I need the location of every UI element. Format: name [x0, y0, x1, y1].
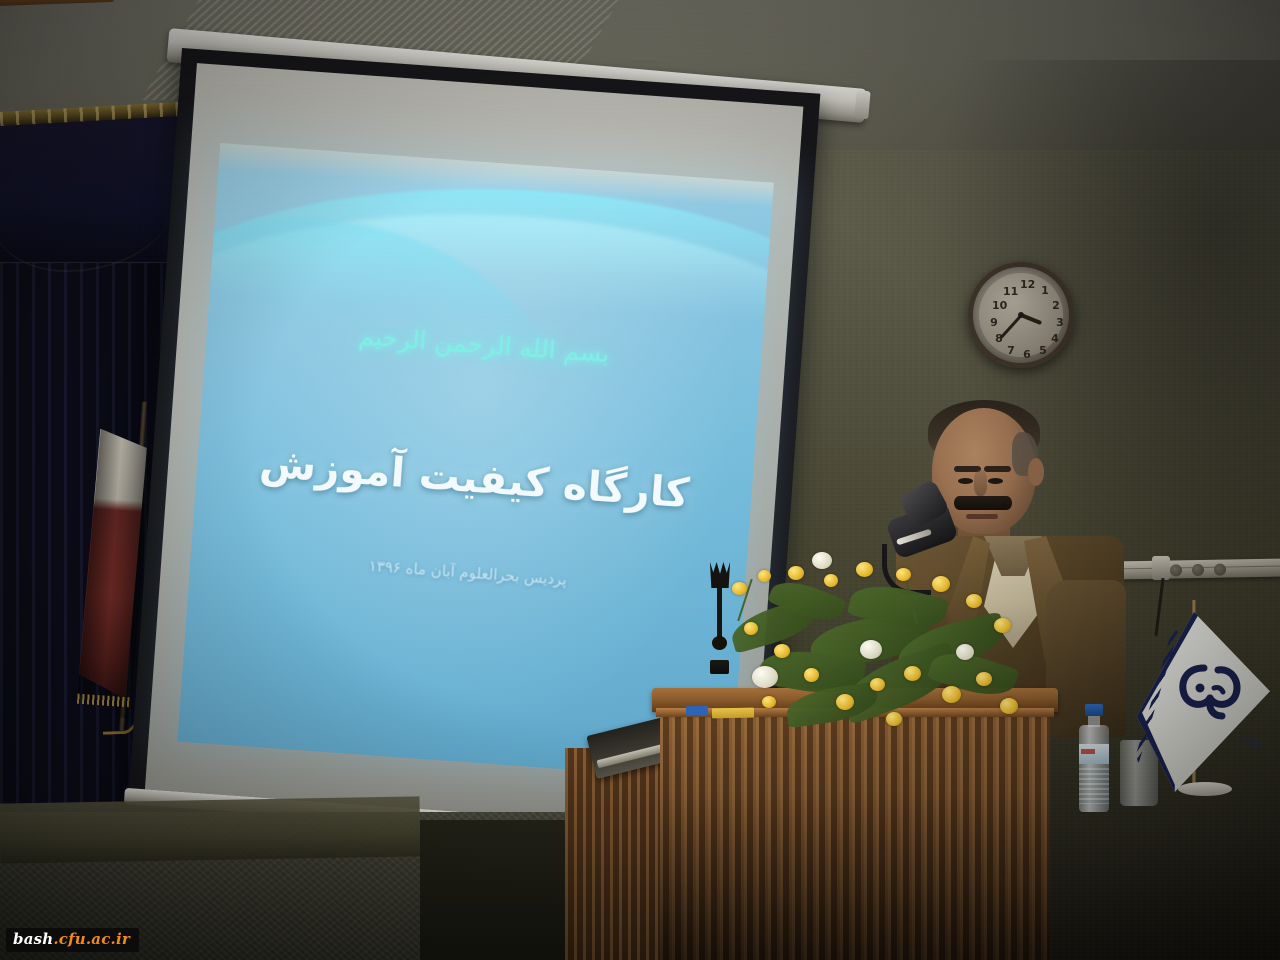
desk-flag-subtext [1238, 734, 1268, 752]
clock-minute-hand [999, 314, 1022, 339]
water-bottle[interactable] [1077, 704, 1111, 812]
bloom [824, 574, 838, 587]
bottle-ribs [1079, 768, 1109, 804]
housing-end-cap [854, 90, 870, 119]
side-table-flutes [565, 748, 671, 960]
power-socket-2[interactable] [1192, 564, 1204, 576]
photograph-scene: بسم الله الرحمن الرحیم کارگاه کیفیت آموز… [0, 0, 1280, 960]
bloom [994, 618, 1011, 633]
bloom [966, 594, 982, 608]
presenter-brow-left [984, 466, 1011, 472]
bloom [804, 668, 819, 682]
bloom [788, 566, 804, 580]
bloom [762, 696, 776, 708]
clock-numeral-3: 3 [1053, 316, 1067, 330]
power-plug [1152, 556, 1170, 580]
bloom [758, 570, 771, 582]
bloom [904, 666, 921, 681]
side-table [565, 748, 671, 960]
wall-raceway [1110, 558, 1280, 579]
stage-front-edge [0, 796, 420, 863]
clock-numeral-6: 6 [1020, 348, 1034, 362]
clock-numeral-9: 9 [987, 316, 1001, 330]
clock-numeral-4: 4 [1048, 332, 1062, 346]
bottle-cap [1085, 704, 1103, 716]
clock-numeral-5: 5 [1036, 344, 1050, 358]
power-socket-1[interactable] [1170, 564, 1182, 576]
bloom-white [812, 552, 832, 569]
bottle-neck [1088, 715, 1100, 727]
bloom [886, 712, 902, 726]
bloom [1000, 698, 1018, 714]
clock-numeral-10: 10 [992, 299, 1006, 313]
presenter-eye-left [988, 478, 1003, 484]
bloom [836, 694, 854, 710]
clock-numeral-12: 12 [1020, 278, 1034, 292]
power-socket-3[interactable] [1214, 564, 1226, 576]
clock-numeral-11: 11 [1003, 285, 1017, 299]
desk-flag-stand [1178, 782, 1232, 796]
presenter-nose [974, 470, 987, 496]
clock-face: 12 1 2 3 4 5 6 7 8 9 10 11 [979, 273, 1063, 357]
desk-flag [1134, 604, 1280, 824]
bloom [932, 576, 950, 592]
clock-numeral-2: 2 [1049, 299, 1063, 313]
bloom [976, 672, 992, 686]
bloom [774, 644, 790, 658]
bloom [732, 582, 747, 595]
wall-clock: 12 1 2 3 4 5 6 7 8 9 10 11 [968, 262, 1074, 368]
clock-numeral-1: 1 [1038, 284, 1052, 298]
bloom-white [860, 640, 882, 659]
bloom-white [956, 644, 974, 660]
bloom [896, 568, 911, 581]
presenter-eye-right [958, 478, 973, 484]
presenter-ear [1028, 458, 1044, 486]
watermark-part-a: bash [13, 930, 53, 948]
bottle-label-accent [1081, 749, 1095, 754]
bloom [856, 562, 873, 577]
clock-numeral-7: 7 [1004, 344, 1018, 358]
bloom [744, 622, 758, 635]
watermark-part-b: .cfu.ac.ir [53, 930, 130, 948]
flower-arrangement [700, 548, 1060, 748]
projected-slide: بسم الله الرحمن الرحیم کارگاه کیفیت آموز… [177, 143, 773, 781]
bloom [942, 686, 961, 703]
site-watermark: bash.cfu.ac.ir [6, 928, 139, 952]
bloom-white [752, 666, 778, 688]
clock-center-pin [1018, 312, 1024, 318]
institution-logo-icon [1174, 658, 1246, 724]
bloom [870, 678, 885, 691]
bottle-label [1079, 744, 1109, 764]
